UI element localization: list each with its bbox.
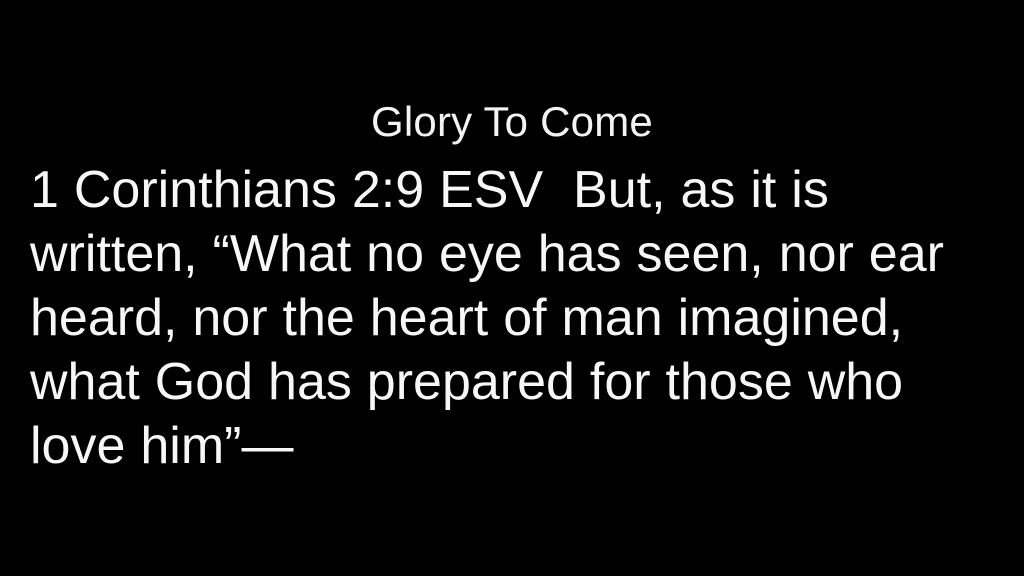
slide-title: Glory To Come	[0, 97, 1024, 147]
presentation-slide: Glory To Come 1 Corinthians 2:9 ESV But,…	[0, 0, 1024, 576]
slide-scripture-text: 1 Corinthians 2:9 ESV But, as it is writ…	[30, 158, 1000, 478]
